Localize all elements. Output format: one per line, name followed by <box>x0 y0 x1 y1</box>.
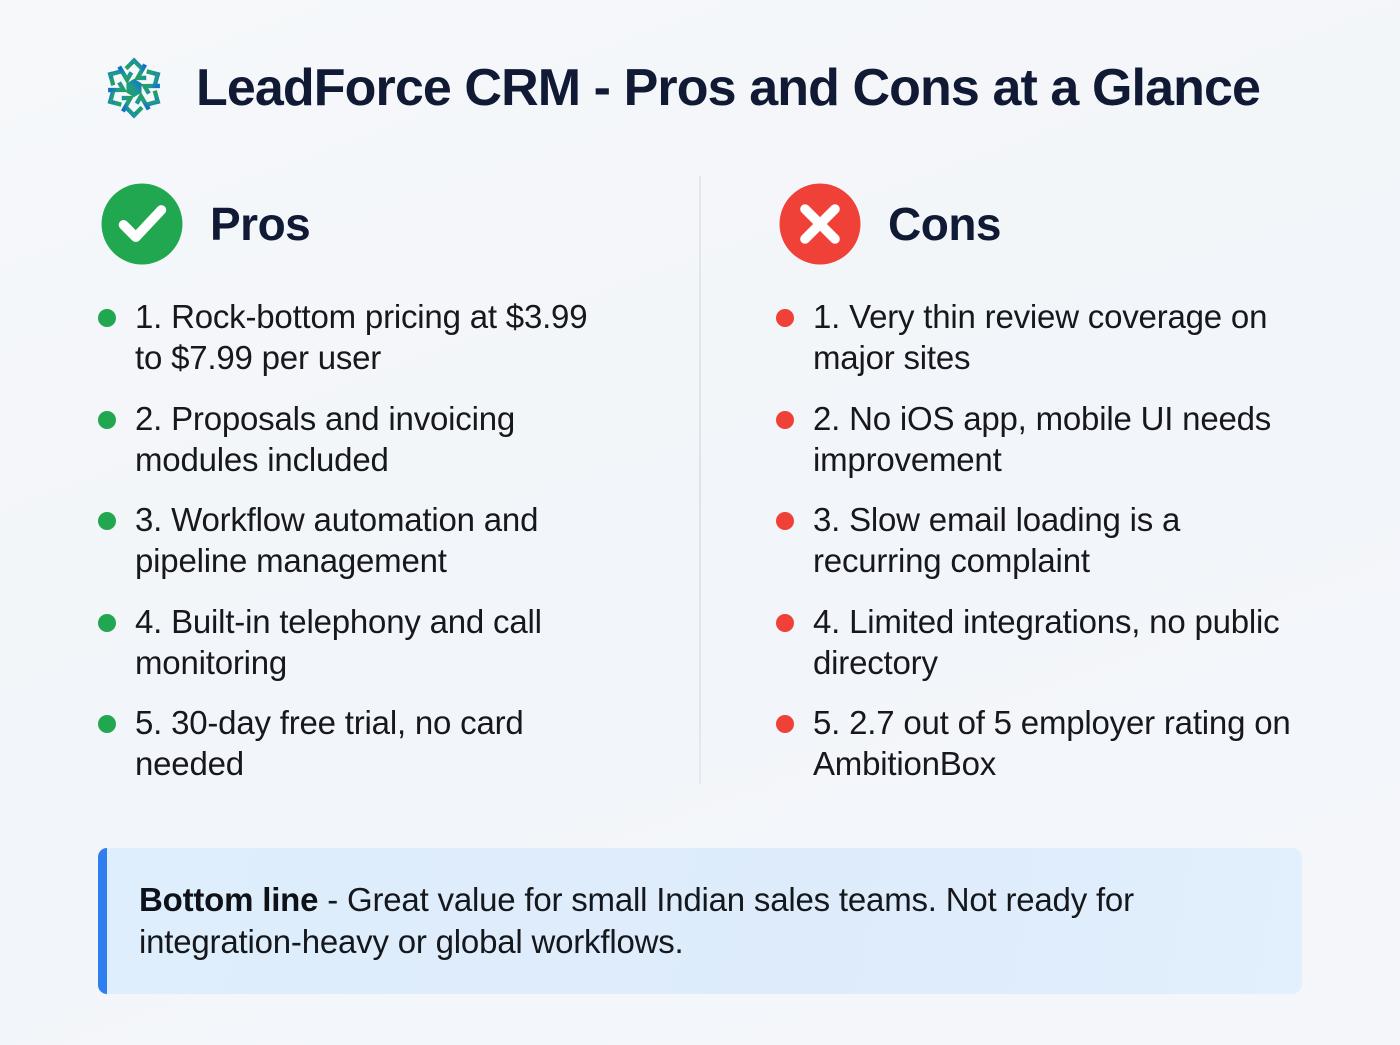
bullet-dot-icon <box>98 411 116 429</box>
list-item-text: 3. Slow email loading is a recurring com… <box>813 499 1305 582</box>
callout-accent-bar <box>98 848 107 994</box>
pros-heading-label: Pros <box>210 201 310 247</box>
list-item: 4. Built-in telephony and call monitorin… <box>98 601 700 684</box>
bullet-dot-icon <box>776 715 794 733</box>
list-item: 4. Limited integrations, no public direc… <box>776 601 1400 684</box>
check-circle-icon <box>98 180 186 268</box>
bullet-dot-icon <box>776 512 794 530</box>
list-item-text: 1. Rock-bottom pricing at $3.99 to $7.99… <box>135 296 605 379</box>
list-item-text: 4. Limited integrations, no public direc… <box>813 601 1305 684</box>
bottom-line-callout: Bottom line - Great value for small Indi… <box>98 848 1302 994</box>
list-item: 2. No iOS app, mobile UI needs improveme… <box>776 398 1400 481</box>
infographic-page: LeadForce CRM - Pros and Cons at a Glanc… <box>0 0 1400 1045</box>
cons-heading-label: Cons <box>888 201 1001 247</box>
list-item-text: 4. Built-in telephony and call monitorin… <box>135 601 605 684</box>
pros-column: Pros 1. Rock-bottom pricing at $3.99 to … <box>0 176 700 786</box>
cons-heading-row: Cons <box>776 176 1400 272</box>
header: LeadForce CRM - Pros and Cons at a Glanc… <box>98 52 1260 124</box>
bullet-dot-icon <box>98 614 116 632</box>
page-title: LeadForce CRM - Pros and Cons at a Glanc… <box>196 62 1260 114</box>
bullet-dot-icon <box>98 512 116 530</box>
bullet-dot-icon <box>776 614 794 632</box>
hexagon-snowflake-logo-icon <box>98 52 170 124</box>
list-item: 5. 2.7 out of 5 employer rating on Ambit… <box>776 702 1400 785</box>
list-item-text: 5. 30-day free trial, no card needed <box>135 702 605 785</box>
list-item: 1. Rock-bottom pricing at $3.99 to $7.99… <box>98 296 700 379</box>
bullet-dot-icon <box>98 309 116 327</box>
pros-heading-row: Pros <box>98 176 700 272</box>
list-item: 5. 30-day free trial, no card needed <box>98 702 700 785</box>
bullet-dot-icon <box>776 309 794 327</box>
list-item: 3. Slow email loading is a recurring com… <box>776 499 1400 582</box>
callout-text: Bottom line - Great value for small Indi… <box>98 879 1302 963</box>
list-item: 3. Workflow automation and pipeline mana… <box>98 499 700 582</box>
pros-list: 1. Rock-bottom pricing at $3.99 to $7.99… <box>98 296 700 785</box>
list-item-text: 3. Workflow automation and pipeline mana… <box>135 499 605 582</box>
list-item-text: 5. 2.7 out of 5 employer rating on Ambit… <box>813 702 1305 785</box>
list-item-text: 2. No iOS app, mobile UI needs improveme… <box>813 398 1305 481</box>
comparison-columns: Pros 1. Rock-bottom pricing at $3.99 to … <box>0 176 1400 786</box>
list-item-text: 1. Very thin review coverage on major si… <box>813 296 1305 379</box>
list-item: 1. Very thin review coverage on major si… <box>776 296 1400 379</box>
cons-list: 1. Very thin review coverage on major si… <box>776 296 1400 785</box>
list-item: 2. Proposals and invoicing modules inclu… <box>98 398 700 481</box>
cons-column: Cons 1. Very thin review coverage on maj… <box>700 176 1400 786</box>
callout-lead-label: Bottom line <box>139 881 318 918</box>
x-circle-icon <box>776 180 864 268</box>
bullet-dot-icon <box>776 411 794 429</box>
list-item-text: 2. Proposals and invoicing modules inclu… <box>135 398 605 481</box>
bullet-dot-icon <box>98 715 116 733</box>
